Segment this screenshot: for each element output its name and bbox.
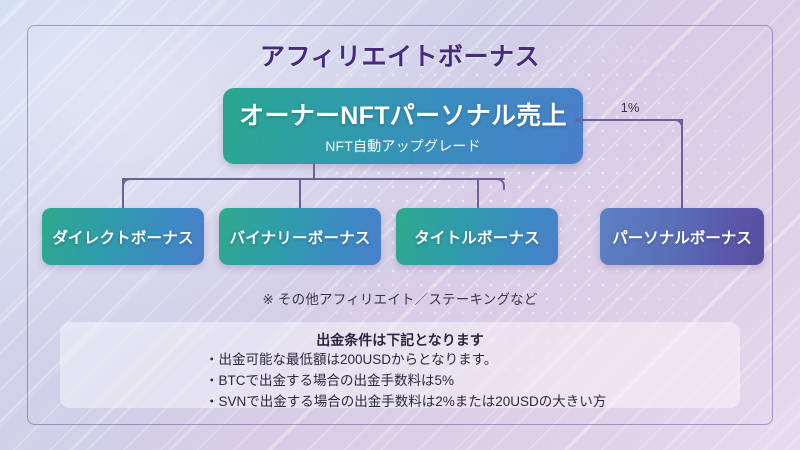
list-item: ・SVNで出金する場合の出金手数料は2%または20USDの大きい方 — [205, 392, 725, 413]
node-owner-nft-personal-sales[interactable]: オーナーNFTパーソナル売上 NFT自動アップグレード — [223, 88, 583, 164]
connector-horizontal-bus — [123, 178, 505, 180]
node-personal-bonus[interactable]: パーソナルボーナス — [600, 208, 764, 265]
node-title-bonus-label: タイトルボーナス — [414, 226, 540, 248]
connector-drop-title — [477, 178, 479, 209]
connector-drop-direct — [122, 178, 124, 209]
connector-right-vertical — [681, 119, 683, 209]
connector-main-vertical — [313, 163, 315, 179]
node-title-bonus[interactable]: タイトルボーナス — [396, 208, 558, 265]
node-personal-bonus-label: パーソナルボーナス — [612, 226, 752, 248]
footnote-text: ※ その他アフィリエイト／ステーキングなど — [0, 288, 800, 308]
list-item: ・出金可能な最低額は200USDからとなります。 — [205, 350, 725, 371]
node-binary-bonus-label: バイナリーボーナス — [230, 226, 371, 248]
branch-percent-label: 1% — [600, 100, 660, 115]
connector-right-horizontal — [575, 119, 683, 121]
node-binary-bonus[interactable]: バイナリーボーナス — [219, 208, 381, 265]
node-main-title: オーナーNFTパーソナル売上 — [239, 96, 567, 132]
node-direct-bonus-label: ダイレクトボーナス — [52, 226, 193, 248]
withdrawal-conditions-title: 出金条件は下記となります — [0, 330, 800, 350]
connector-drop-binary — [299, 178, 301, 209]
node-main-subtitle: NFT自動アップグレード — [325, 136, 481, 156]
withdrawal-conditions-list: ・出金可能な最低額は200USDからとなります。 ・BTCで出金する場合の出金手… — [205, 350, 725, 413]
node-direct-bonus[interactable]: ダイレクトボーナス — [42, 208, 204, 265]
list-item: ・BTCで出金する場合の出金手数料は5% — [205, 371, 725, 392]
page-title: アフィリエイトボーナス — [0, 37, 800, 73]
